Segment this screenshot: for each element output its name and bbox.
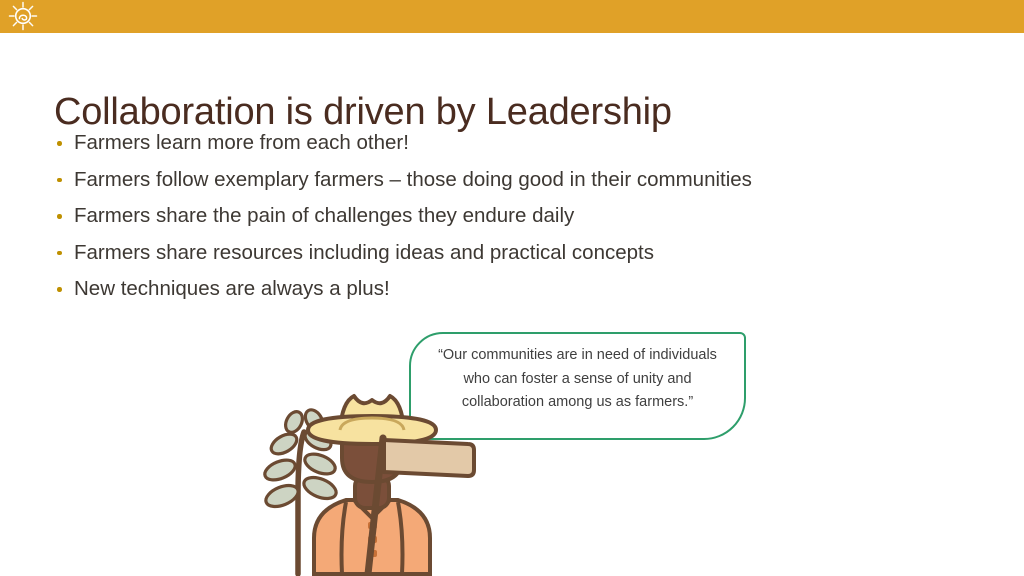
bullet-dot-icon (57, 214, 62, 219)
straw-hat (308, 396, 436, 444)
top-accent-bar (0, 0, 1024, 33)
list-item: Farmers share the pain of challenges the… (54, 204, 954, 228)
page-title: Collaboration is driven by Leadership (54, 89, 954, 135)
bullet-list: Farmers learn more from each other! Farm… (54, 131, 954, 314)
bullet-dot-icon (57, 251, 62, 256)
bullet-dot-icon (57, 178, 62, 183)
list-item: Farmers follow exemplary farmers – those… (54, 168, 954, 192)
list-item-label: New techniques are always a plus! (74, 277, 390, 300)
list-item: Farmers learn more from each other! (54, 131, 954, 155)
sun-swirl-logo-icon (7, 0, 39, 32)
bullet-dot-icon (57, 287, 62, 292)
list-item: Farmers share resources including ideas … (54, 241, 954, 265)
list-item-label: Farmers share resources including ideas … (74, 241, 654, 264)
list-item-label: Farmers follow exemplary farmers – those… (74, 168, 752, 191)
list-item: New techniques are always a plus! (54, 277, 954, 301)
farmer-with-hoe-illustration (250, 378, 490, 576)
list-item-label: Farmers learn more from each other! (74, 131, 409, 154)
list-item-label: Farmers share the pain of challenges the… (74, 204, 574, 227)
bullet-dot-icon (57, 141, 62, 146)
